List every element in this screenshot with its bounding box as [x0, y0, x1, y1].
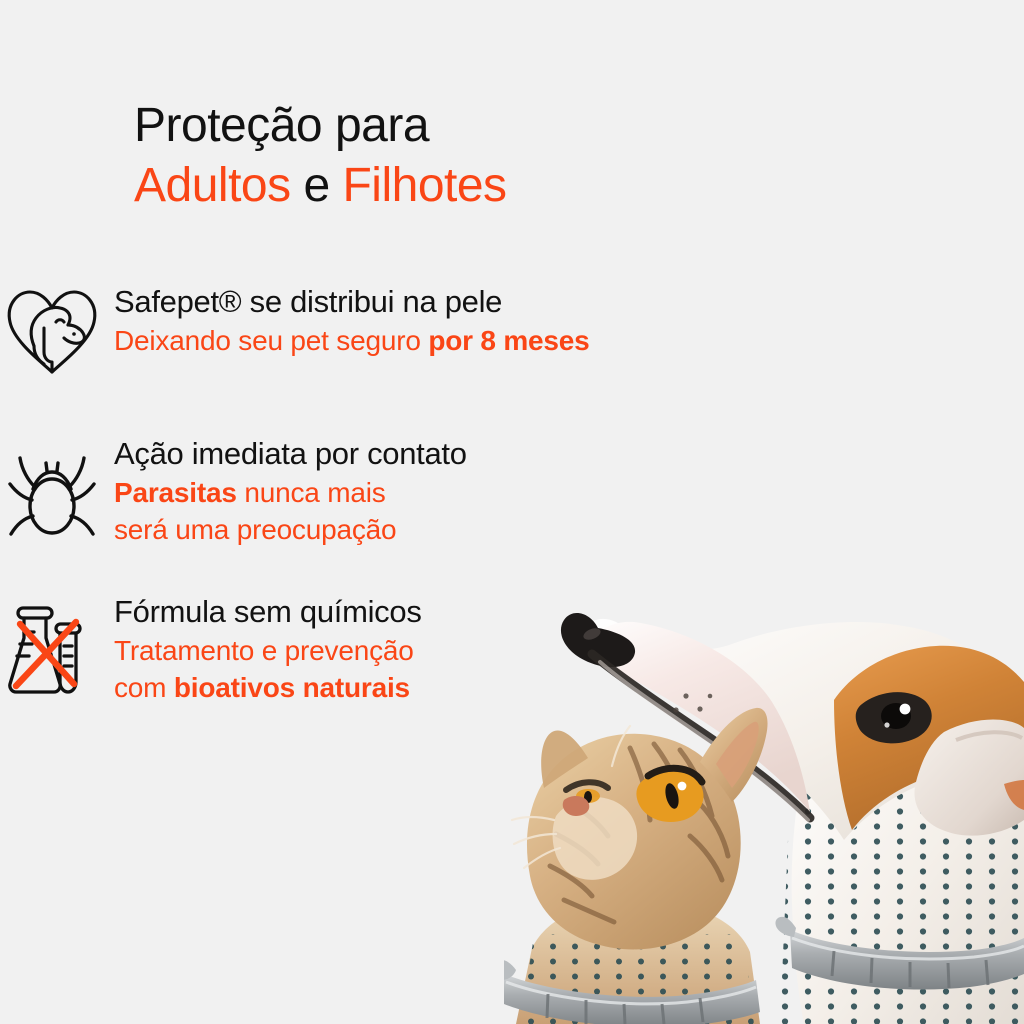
- feature-subtitle-line-1: Parasitas nunca mais: [114, 474, 467, 511]
- subtitle-bold: por 8 meses: [428, 325, 589, 356]
- feature-text: Safepet® se distribui na pele Deixando s…: [104, 282, 590, 359]
- feature-item-immediate-action: Ação imediata por contato Parasitas nunc…: [0, 434, 880, 548]
- subtitle-bold: bioativos naturais: [174, 672, 410, 703]
- tick-parasite-icon: [0, 434, 104, 540]
- page-title: Proteção para Adultos e Filhotes: [134, 96, 507, 216]
- feature-text: Fórmula sem químicos Tratamento e preven…: [104, 592, 422, 706]
- feature-subtitle-line-1: Deixando seu pet seguro por 8 meses: [114, 322, 590, 359]
- cat-photo: [504, 708, 768, 1024]
- subtitle-normal: com: [114, 672, 174, 703]
- dog-collar: [775, 917, 1024, 990]
- feature-subtitle-line-2: com bioativos naturais: [114, 669, 422, 706]
- title-line-2: Adultos e Filhotes: [134, 156, 507, 216]
- heart-dog-icon: [0, 282, 104, 380]
- subtitle-bold: Parasitas: [114, 477, 237, 508]
- feature-item-no-chemicals: Fórmula sem químicos Tratamento e preven…: [0, 592, 880, 706]
- feature-item-skin-distribution: Safepet® se distribui na pele Deixando s…: [0, 282, 880, 380]
- cat-collar: [504, 960, 760, 1024]
- title-line-1: Proteção para: [134, 96, 507, 156]
- title-word-filhotes: Filhotes: [342, 159, 506, 212]
- subtitle-normal: nunca mais: [237, 477, 386, 508]
- cat-eye: [636, 768, 703, 822]
- no-chemicals-flask-icon: [0, 592, 104, 698]
- feature-subtitle-line-1: Tratamento e prevenção: [114, 632, 422, 669]
- feature-title: Fórmula sem químicos: [114, 592, 422, 632]
- feature-subtitle-line-2: será uma preocupação: [114, 511, 467, 548]
- title-conjunction: e: [291, 159, 343, 212]
- feature-title: Safepet® se distribui na pele: [114, 282, 590, 322]
- promo-banner: Proteção para Adultos e Filhotes Safepet…: [0, 0, 1024, 1024]
- title-word-adultos: Adultos: [134, 159, 291, 212]
- feature-list: Safepet® se distribui na pele Deixando s…: [0, 282, 880, 706]
- feature-title: Ação imediata por contato: [114, 434, 467, 474]
- feature-text: Ação imediata por contato Parasitas nunc…: [104, 434, 467, 548]
- subtitle-normal: Deixando seu pet seguro: [114, 325, 428, 356]
